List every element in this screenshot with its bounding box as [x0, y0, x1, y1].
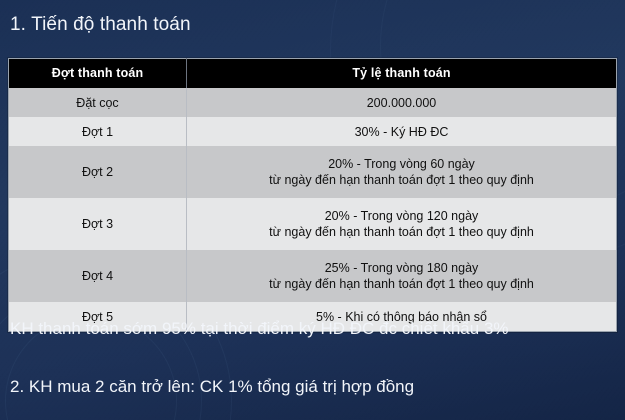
cell-stage: Đợt 4: [9, 250, 187, 302]
table-header-row: Đợt thanh toán Tỷ lệ thanh toán: [9, 59, 617, 89]
note-multi-unit-discount: 2. KH mua 2 căn trở lên: CK 1% tổng giá …: [10, 376, 414, 398]
cell-stage: Đợt 1: [9, 117, 187, 146]
cell-ratio-line2: từ ngày đến hạn thanh toán đợt 1 theo qu…: [193, 172, 610, 188]
slide-canvas: 1. Tiến độ thanh toán Đợt thanh toán Tỷ …: [0, 0, 625, 420]
cell-ratio: 200.000.000: [187, 88, 617, 117]
payment-schedule-table: Đợt thanh toán Tỷ lệ thanh toán Đặt cọc …: [8, 58, 617, 332]
cell-ratio-line1: 25% - Trong vòng 180 ngày: [193, 260, 610, 276]
cell-ratio: 20% - Trong vòng 120 ngày từ ngày đến hạ…: [187, 198, 617, 250]
cell-stage: Đặt cọc: [9, 88, 187, 117]
table-row: Đợt 3 20% - Trong vòng 120 ngày từ ngày …: [9, 198, 617, 250]
cell-ratio-line1: 20% - Trong vòng 60 ngày: [193, 156, 610, 172]
cell-ratio-line1: 20% - Trong vòng 120 ngày: [193, 208, 610, 224]
column-header-ratio: Tỷ lệ thanh toán: [187, 59, 617, 89]
cell-ratio: 20% - Trong vòng 60 ngày từ ngày đến hạn…: [187, 146, 617, 198]
cell-stage: Đợt 2: [9, 146, 187, 198]
table-row: Đợt 2 20% - Trong vòng 60 ngày từ ngày đ…: [9, 146, 617, 198]
table-row: Đợt 4 25% - Trong vòng 180 ngày từ ngày …: [9, 250, 617, 302]
cell-ratio-line2: từ ngày đến hạn thanh toán đợt 1 theo qu…: [193, 276, 610, 292]
note-early-payment-discount: KH thanh toán sớm 95% tại thời điểm ký H…: [10, 318, 509, 340]
page-title: 1. Tiến độ thanh toán: [10, 13, 191, 37]
cell-ratio-line1: 200.000.000: [193, 95, 610, 111]
cell-ratio: 30% - Ký HĐ ĐC: [187, 117, 617, 146]
cell-ratio-line2: từ ngày đến hạn thanh toán đợt 1 theo qu…: [193, 224, 610, 240]
table-row: Đợt 1 30% - Ký HĐ ĐC: [9, 117, 617, 146]
cell-ratio: 25% - Trong vòng 180 ngày từ ngày đến hạ…: [187, 250, 617, 302]
table-row: Đặt cọc 200.000.000: [9, 88, 617, 117]
column-header-stage: Đợt thanh toán: [9, 59, 187, 89]
cell-ratio-line1: 30% - Ký HĐ ĐC: [193, 124, 610, 140]
cell-stage: Đợt 3: [9, 198, 187, 250]
